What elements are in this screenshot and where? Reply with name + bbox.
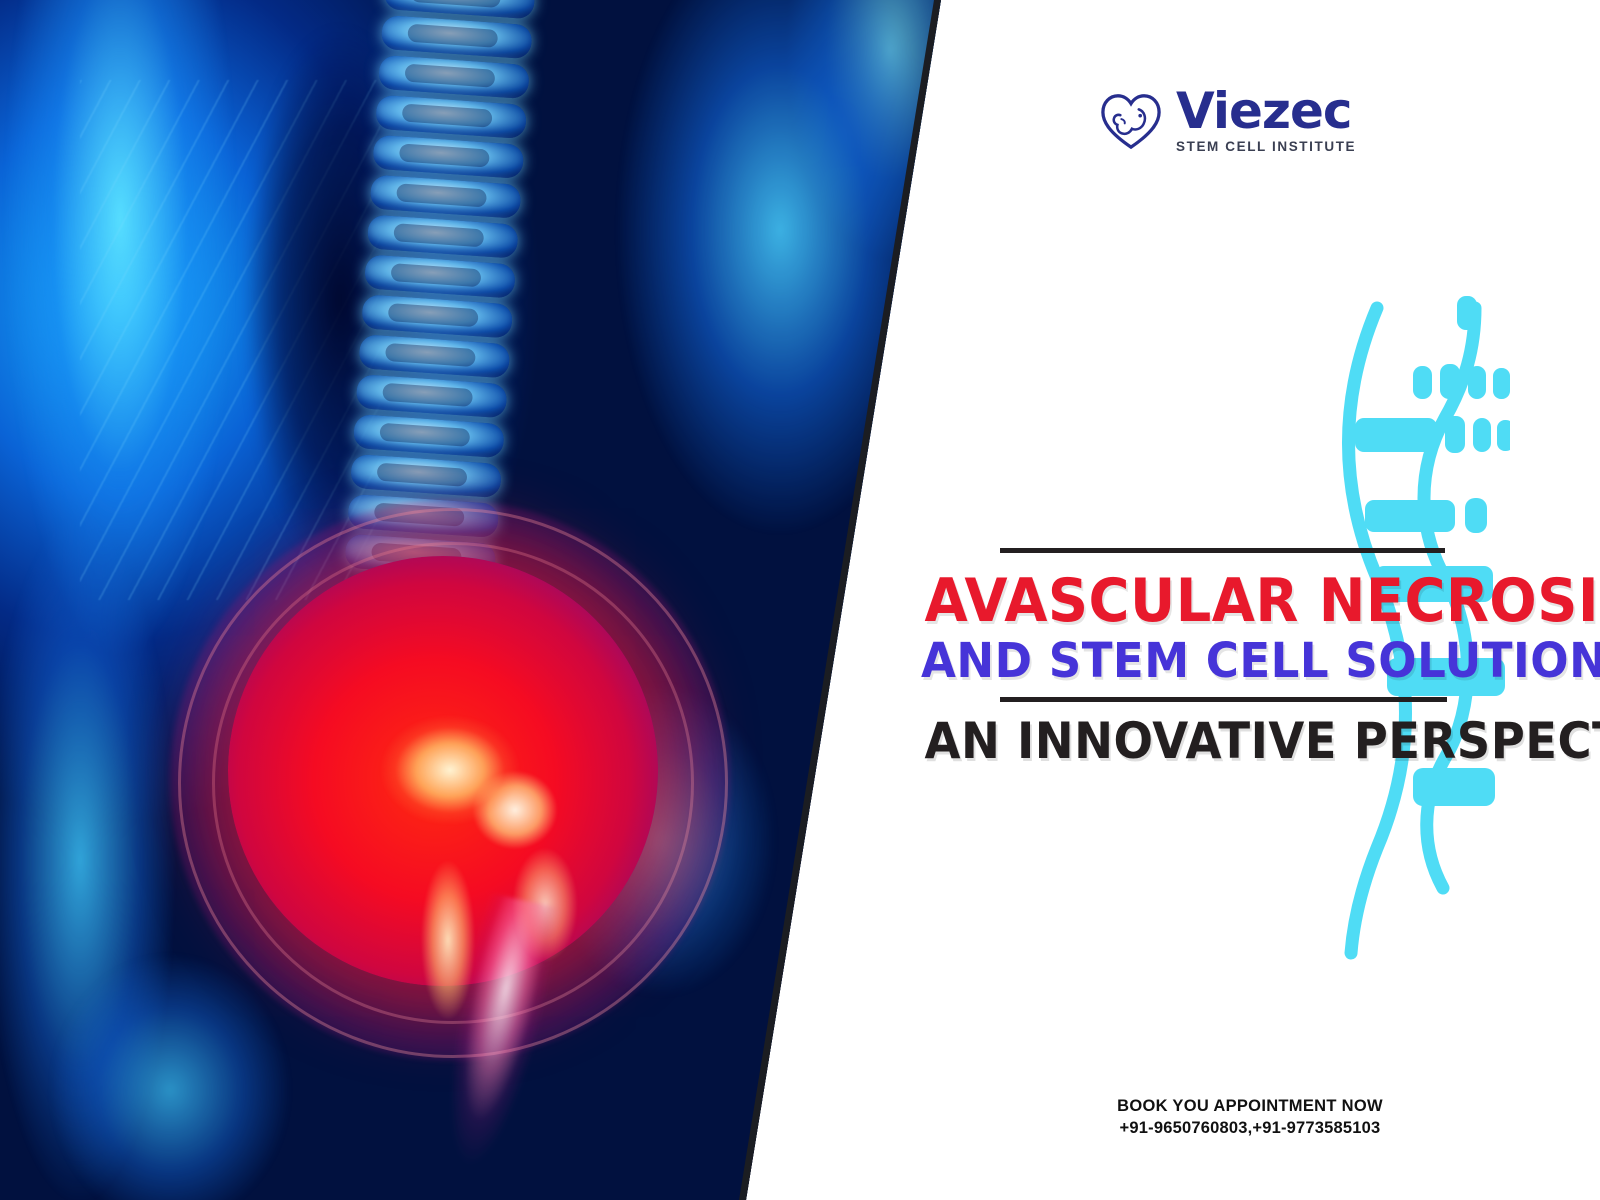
medical-image-panel <box>0 0 960 1200</box>
brand-tagline: STEM CELL INSTITUTE <box>1176 139 1356 154</box>
headline-block: AVASCULAR NECROSIS AND STEM CELL SOLUTIO… <box>900 548 1600 766</box>
headline-line-3: AN INNOVATIVE PERSPECTIVE <box>925 716 1576 766</box>
promotional-banner: Viezec STEM CELL INSTITUTE <box>0 0 1600 1200</box>
cta-prompt: BOOK YOU APPOINTMENT NOW <box>900 1097 1600 1116</box>
headline-line-1: AVASCULAR NECROSIS <box>925 571 1576 631</box>
brand-logo[interactable]: Viezec STEM CELL INSTITUTE <box>1100 88 1356 154</box>
heart-embryo-icon <box>1100 90 1162 152</box>
brand-name: Viezec <box>1176 88 1352 136</box>
xray-thigh-glow <box>30 940 330 1200</box>
headline-rule-middle <box>1000 697 1447 702</box>
cta-block: BOOK YOU APPOINTMENT NOW +91-9650760803,… <box>900 1097 1600 1138</box>
headline-line-2: AND STEM CELL SOLUTIONS: <box>921 637 1579 685</box>
headline-rule-top <box>1000 548 1445 553</box>
cta-phone-numbers[interactable]: +91-9650760803,+91-9773585103 <box>900 1119 1600 1138</box>
content-panel: Viezec STEM CELL INSTITUTE <box>900 0 1600 1200</box>
